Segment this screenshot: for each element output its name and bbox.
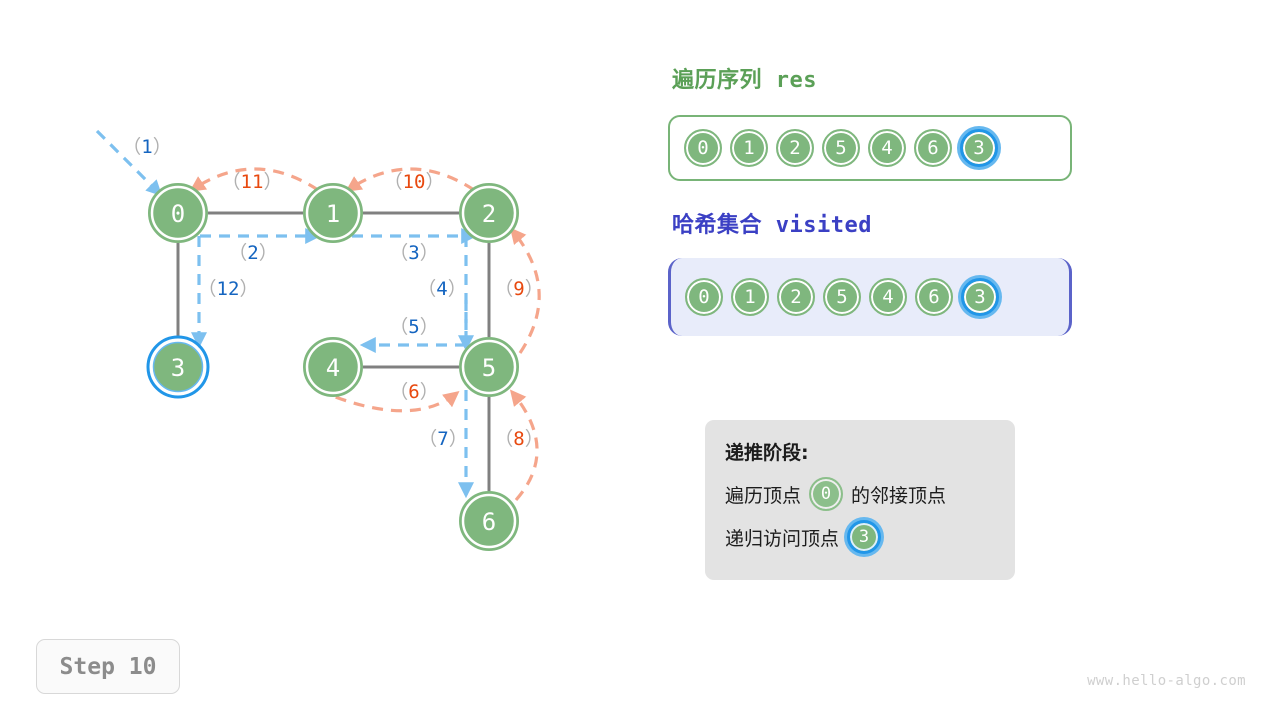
explanation-box: 递推阶段: 遍历顶点 0 的邻接顶点 递归访问顶点 3 [705,420,1015,580]
graph-node-0[interactable]: 0 [149,184,207,242]
step-badge: Step 10 [36,639,180,694]
step-label-7: （7） [418,428,467,450]
explanation-line-2: 递归访问顶点 3 [725,520,995,554]
visited-chip: 5 [823,278,861,316]
res-chip: 3 [960,129,998,167]
visited-chip: 4 [869,278,907,316]
step-label-8: （8） [494,428,543,450]
graph-node-3[interactable]: 3 [148,337,208,397]
graph-node-5[interactable]: 5 [460,338,518,396]
graph-node-6-label: 6 [482,508,496,536]
step-label-9: （9） [494,278,543,300]
graph-node-1[interactable]: 1 [304,184,362,242]
graph-node-3-label: 3 [171,354,185,382]
res-container: 0125463 [668,115,1072,181]
res-title: 遍历序列 res [672,62,817,94]
explanation-line-1: 遍历顶点 0 的邻接顶点 [725,477,995,511]
graph-node-1-label: 1 [326,200,340,228]
visited-chip-list: 0125463 [671,258,1069,336]
visited-title: 哈希集合 visited [672,207,872,239]
step-label-5: （5） [389,316,438,338]
graph-node-5-label: 5 [482,354,496,382]
step-label-12: （12） [198,278,259,300]
graph-nodes: 0 1 2 3 [148,184,518,550]
graph-node-2[interactable]: 2 [460,184,518,242]
graph-node-0-label: 0 [171,200,185,228]
explanation-line-1-prefix: 遍历顶点 [725,481,801,508]
res-chip: 0 [684,129,722,167]
graph-node-4[interactable]: 4 [304,338,362,396]
visited-container: 0125463 [668,258,1072,336]
watermark: www.hello-algo.com [1087,673,1246,689]
res-chip: 4 [868,129,906,167]
explanation-line-1-suffix: 的邻接顶点 [851,481,946,508]
res-chip: 1 [730,129,768,167]
res-chip: 2 [776,129,814,167]
graph-svg: 0 1 2 3 [0,0,1280,720]
step-label-2: （2） [228,242,277,264]
visited-chip: 2 [777,278,815,316]
step-label-3: （3） [389,242,438,264]
diagram-stage: 0 1 2 3 [0,0,1280,720]
visited-chip: 0 [685,278,723,316]
step-label-6: （6） [389,381,438,403]
res-chip-list: 0125463 [670,117,1070,179]
explanation-visit-chip: 3 [847,520,881,554]
visited-chip: 1 [731,278,769,316]
res-chip: 6 [914,129,952,167]
step-label-4: （4） [417,278,466,300]
res-chip: 5 [822,129,860,167]
graph-node-2-label: 2 [482,200,496,228]
step-label-11: （11） [222,171,283,193]
graph-node-6[interactable]: 6 [460,492,518,550]
step-label-10: （10） [384,171,445,193]
visited-chip: 6 [915,278,953,316]
visited-chip: 3 [961,278,999,316]
explanation-vertex-chip: 0 [809,477,843,511]
graph-node-4-label: 4 [326,354,340,382]
explanation-heading: 递推阶段: [725,438,995,465]
step-label-1: （1） [122,136,171,158]
explanation-line-2-prefix: 递归访问顶点 [725,524,839,551]
